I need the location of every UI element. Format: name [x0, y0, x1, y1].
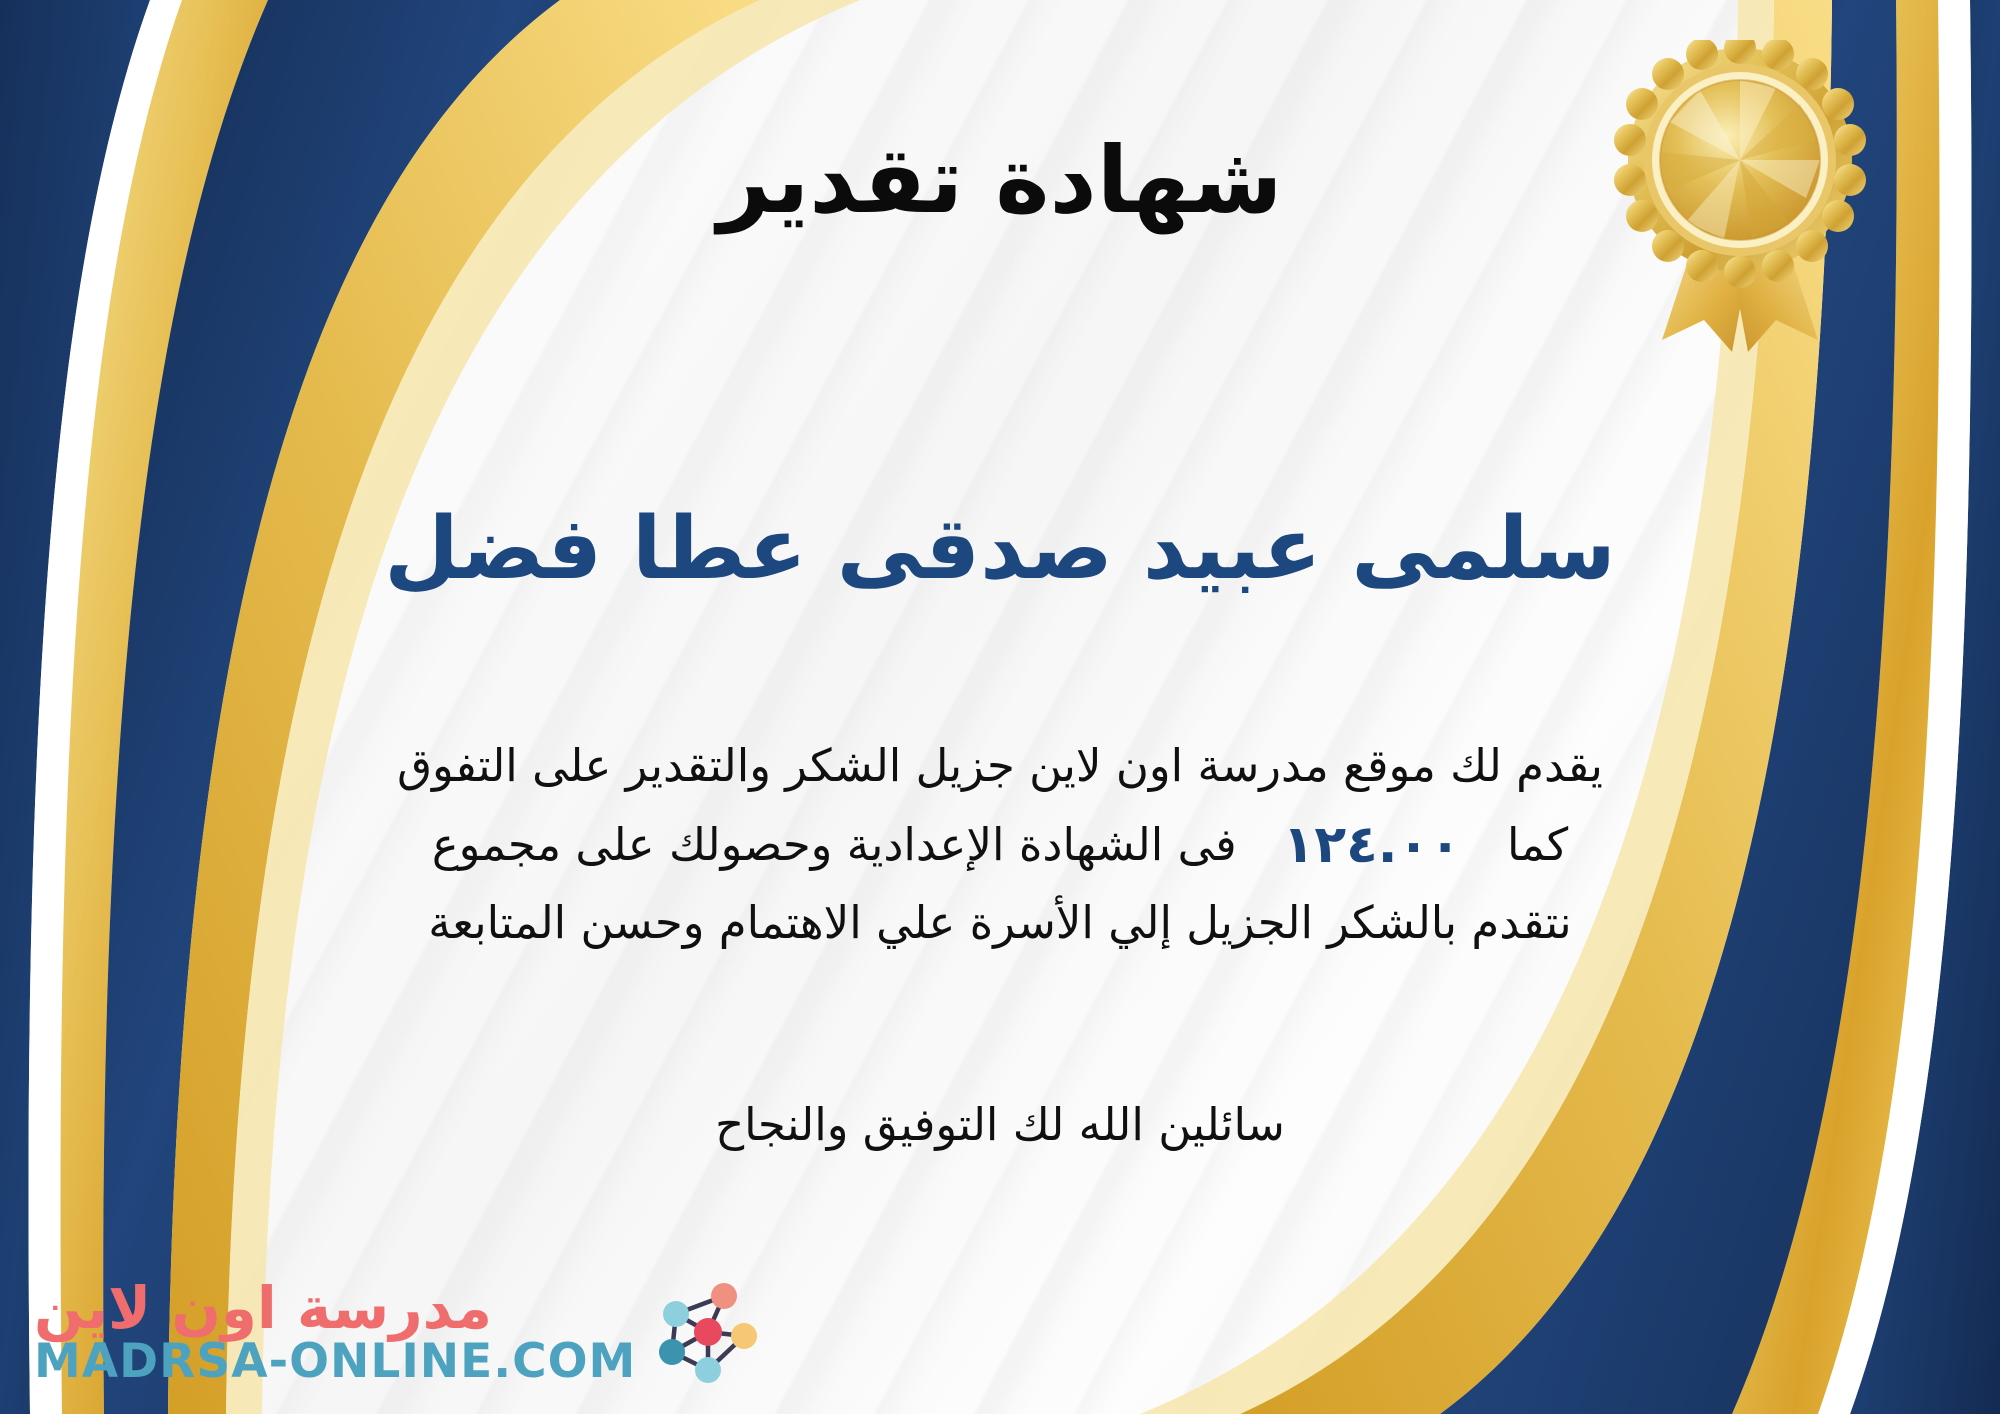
brand-website-url: MADRSA-ONLINE.COM	[34, 1337, 636, 1386]
body-line-2: كما ١٢٤.٠٠ فى الشهادة الإعدادية وحصولك ع…	[60, 803, 1940, 887]
brand-logo: مدرسة اون لاين MADRSA-ONLINE.COM	[34, 1274, 764, 1392]
brand-text-group: مدرسة اون لاين MADRSA-ONLINE.COM	[34, 1279, 636, 1386]
body-line-3: نتقدم بالشكر الجزيل إلي الأسرة علي الاهت…	[60, 887, 1940, 960]
brand-name-arabic: مدرسة اون لاين	[34, 1279, 492, 1337]
recipient-name: سلمى عبيد صدقى عطا فضل	[0, 500, 2000, 599]
network-nodes-logo-icon	[646, 1274, 764, 1392]
certificate-body: يقدم لك موقع مدرسة اون لاين جزيل الشكر و…	[60, 730, 1940, 960]
body-line-2-suffix: كما	[1507, 809, 1568, 882]
body-line-1: يقدم لك موقع مدرسة اون لاين جزيل الشكر و…	[60, 730, 1940, 803]
body-line-2-prefix: فى الشهادة الإعدادية وحصولك على مجموع	[432, 809, 1237, 882]
certificate-title: شهادة تقدير	[0, 130, 2000, 231]
certificate-content: شهادة تقدير سلمى عبيد صدقى عطا فضل يقدم …	[0, 0, 2000, 1414]
certificate-page: شهادة تقدير سلمى عبيد صدقى عطا فضل يقدم …	[0, 0, 2000, 1414]
closing-line: سائلين الله لك التوفيق والنجاح	[0, 1098, 2000, 1151]
total-score-value: ١٢٤.٠٠	[1283, 803, 1461, 887]
